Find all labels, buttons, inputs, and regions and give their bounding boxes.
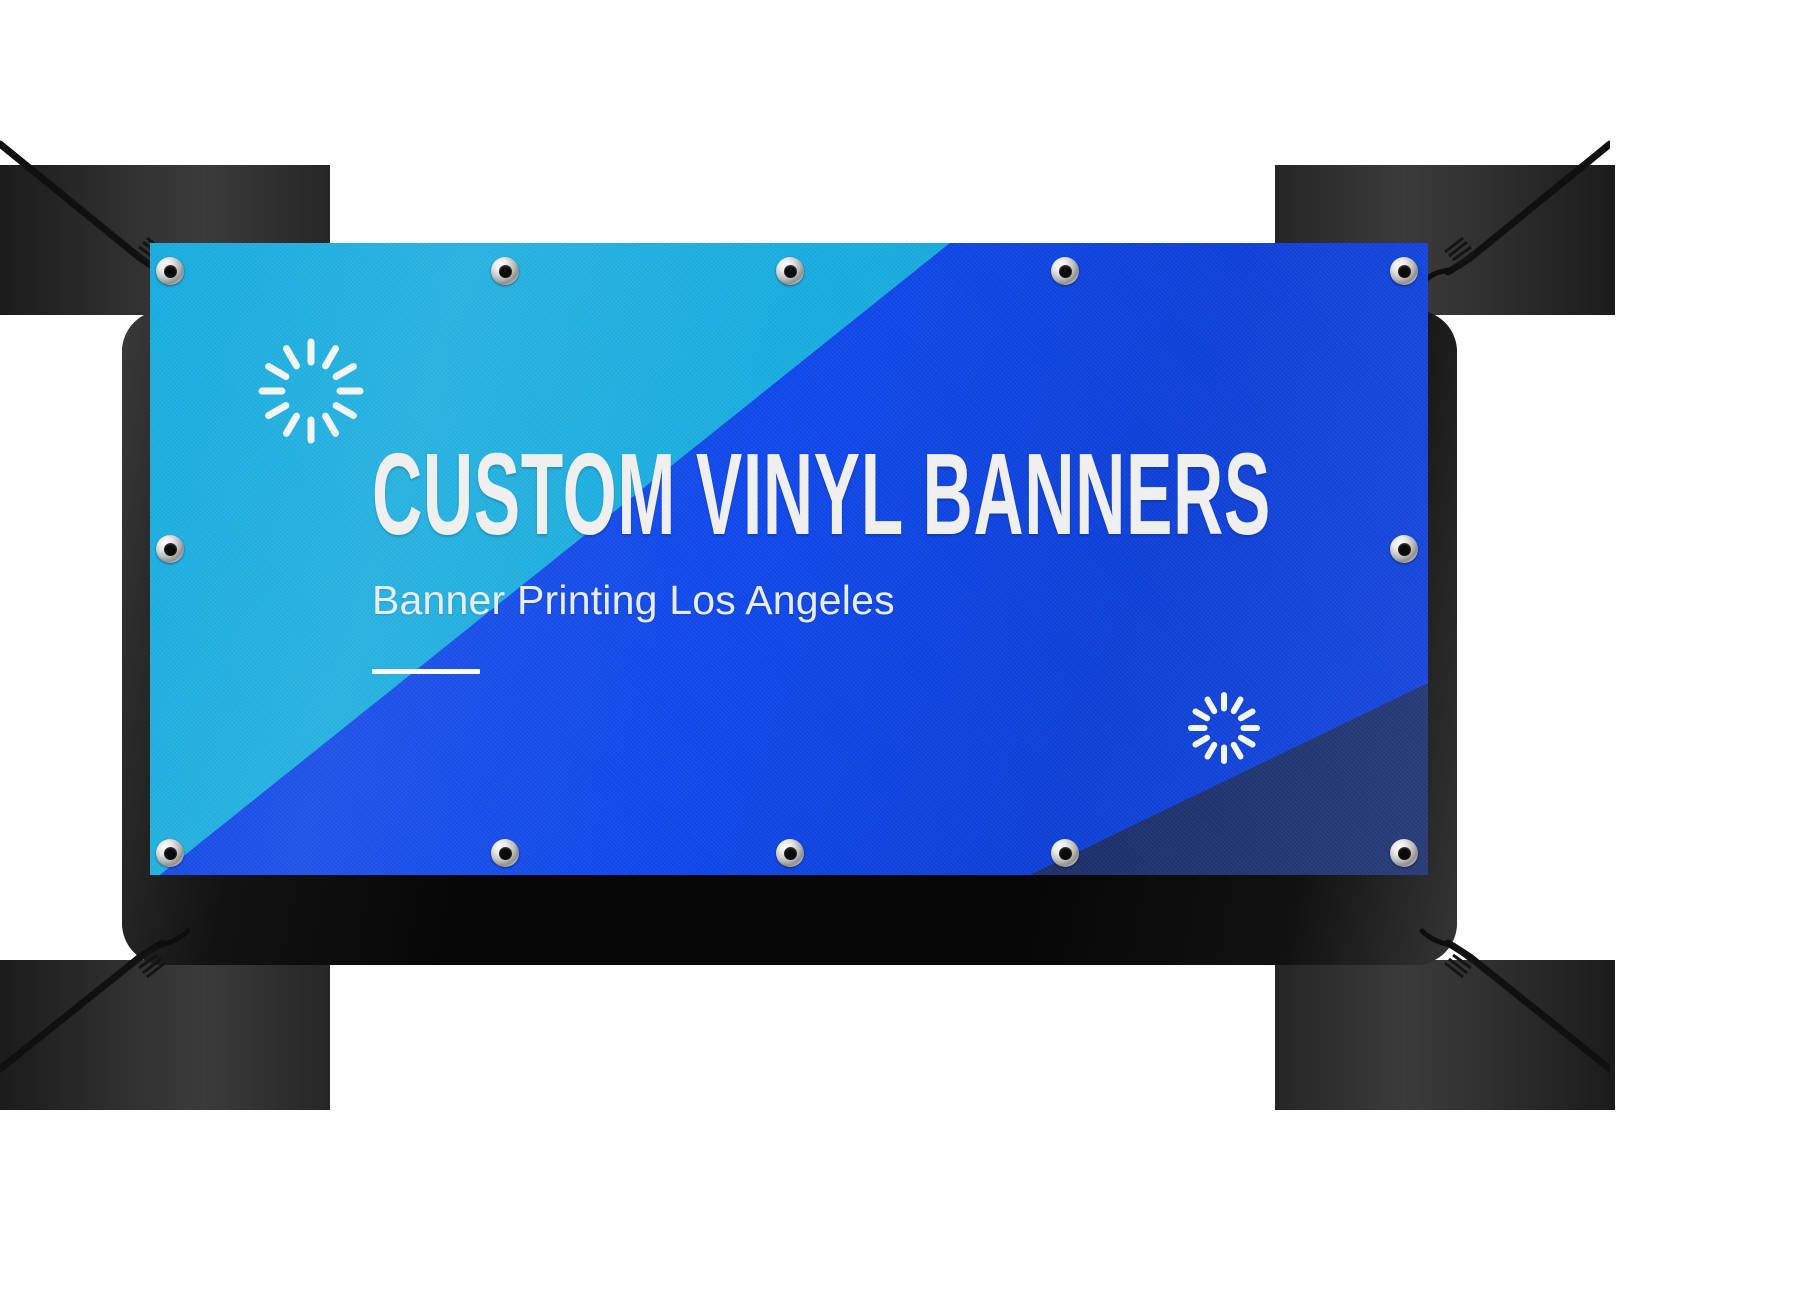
grommet-icon[interactable] — [156, 839, 184, 867]
grommet-icon[interactable] — [776, 839, 804, 867]
grommet-icon[interactable] — [1051, 839, 1079, 867]
banner-divider-rule — [372, 669, 480, 674]
sunburst-icon — [1187, 691, 1261, 765]
grommet-icon[interactable] — [1390, 839, 1418, 867]
vinyl-banner[interactable]: CUSTOM VINYL BANNERS Banner Printing Los… — [150, 243, 1428, 875]
banner-text-block: CUSTOM VINYL BANNERS Banner Printing Los… — [372, 439, 1272, 674]
grommet-icon[interactable] — [1390, 535, 1418, 563]
stand-wing-bottom-left — [0, 960, 330, 1110]
grommet-icon[interactable] — [776, 257, 804, 285]
stand-wing-bottom-right — [1275, 960, 1615, 1110]
grommet-icon[interactable] — [491, 839, 519, 867]
banner-headline: CUSTOM VINYL BANNERS — [372, 439, 912, 549]
grommet-icon[interactable] — [1390, 257, 1418, 285]
banner-mockup-stage: CUSTOM VINYL BANNERS Banner Printing Los… — [0, 0, 1800, 1300]
grommet-icon[interactable] — [491, 257, 519, 285]
grommet-icon[interactable] — [156, 257, 184, 285]
banner-subheadline: Banner Printing Los Angeles — [372, 577, 1272, 624]
sunburst-icon — [256, 336, 366, 446]
grommet-icon[interactable] — [1051, 257, 1079, 285]
grommet-icon[interactable] — [156, 535, 184, 563]
